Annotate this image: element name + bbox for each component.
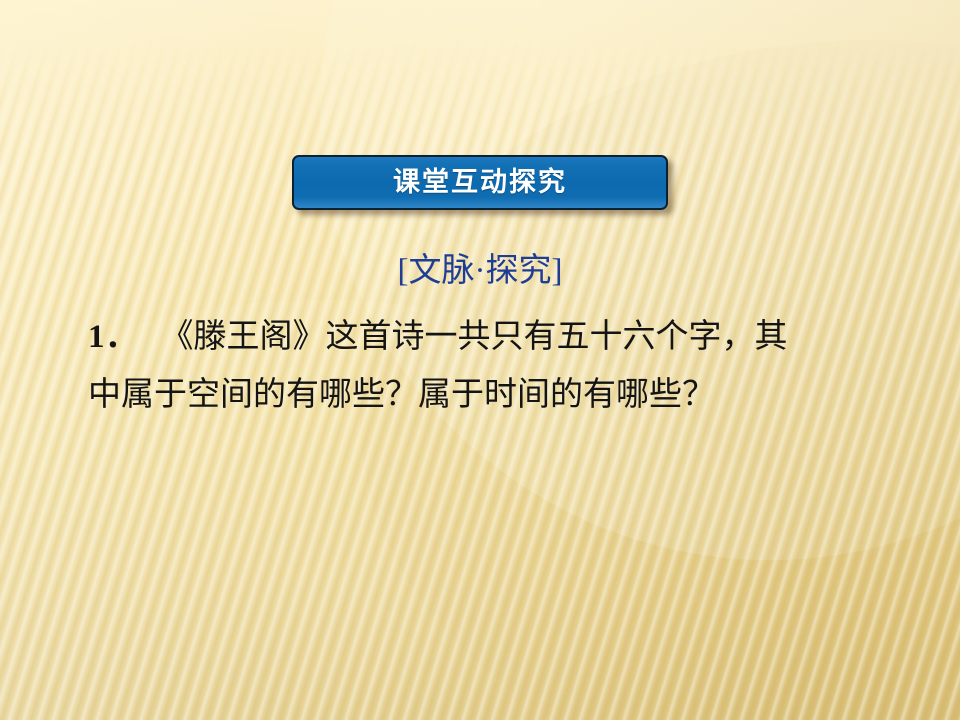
title-banner: 课堂互动探究: [292, 155, 668, 210]
question-number: 1．: [88, 319, 139, 355]
question-line-2: 中属于空间的有哪些？属于时间的有哪些？: [88, 366, 872, 424]
slide-canvas: 课堂互动探究 [文脉·探究] 1．《滕王阁》这首诗一共只有五十六个字，其 中属于…: [0, 0, 960, 720]
section-heading: [文脉·探究]: [0, 252, 960, 292]
question-block: 1．《滕王阁》这首诗一共只有五十六个字，其 中属于空间的有哪些？属于时间的有哪些…: [0, 308, 960, 424]
question-line-1-text: 《滕王阁》这首诗一共只有五十六个字，其: [161, 319, 788, 355]
title-banner-label: 课堂互动探究: [393, 169, 567, 196]
title-banner-plate: 课堂互动探究: [292, 155, 668, 210]
content-area: [文脉·探究] 1．《滕王阁》这首诗一共只有五十六个字，其 中属于空间的有哪些？…: [0, 252, 960, 424]
question-line-1: 1．《滕王阁》这首诗一共只有五十六个字，其: [88, 308, 872, 366]
